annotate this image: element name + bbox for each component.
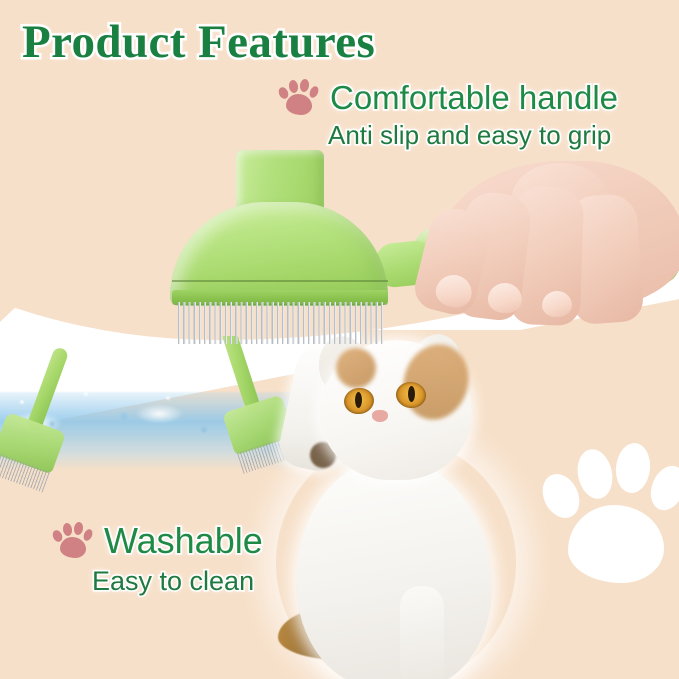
cat-nose [372, 410, 388, 422]
feature-subtext: Anti slip and easy to grip [328, 120, 618, 151]
paw-icon [278, 78, 320, 118]
feature-subtext: Easy to clean [92, 566, 263, 597]
cat-front-leg [400, 586, 444, 679]
feature-washable: Washable Easy to clean [52, 520, 263, 597]
paw-watermark-icon [548, 443, 679, 593]
page-title: Product Features [22, 18, 375, 67]
feature-comfortable-handle: Comfortable handle Anti slip and easy to… [278, 78, 618, 151]
feature-heading: Comfortable handle [330, 79, 618, 117]
hand-holding-brush [404, 165, 679, 345]
cat-photo [252, 318, 552, 679]
paw-icon [52, 521, 94, 561]
product-feature-banner: Product Features Comfortable handle Anti… [0, 0, 679, 679]
feature-heading: Washable [104, 520, 263, 562]
brush-comb-teeth [178, 302, 384, 344]
